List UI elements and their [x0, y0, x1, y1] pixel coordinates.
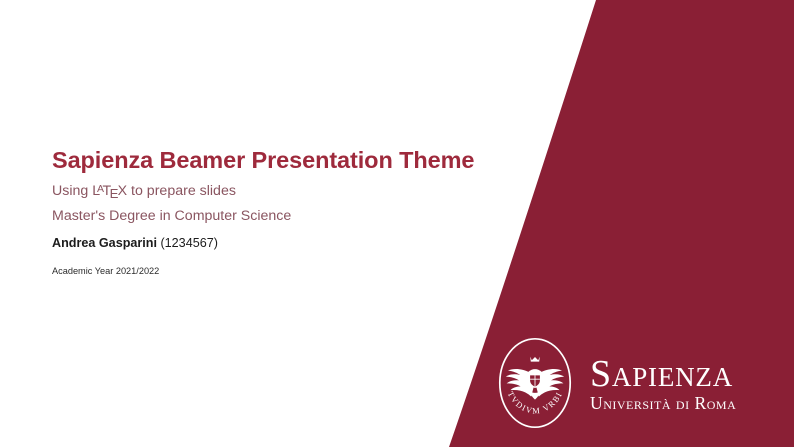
latex-x: X [118, 183, 127, 199]
title-block: Sapienza Beamer Presentation Theme Using… [52, 148, 472, 277]
sapienza-wordmark: Sapienza Università di Roma [590, 353, 736, 412]
author-line: Andrea Gasparini (1234567) [52, 236, 472, 251]
subtitle-suffix: to prepare slides [127, 183, 236, 199]
sapienza-emblem-icon: STVDIVM VRBIS [497, 336, 573, 430]
latex-logo: LATEX [92, 183, 127, 200]
subtitle-prefix: Using [52, 183, 92, 199]
latex-a: A [97, 183, 104, 195]
page-title: Sapienza Beamer Presentation Theme [52, 148, 472, 174]
wordmark-sub: Università di Roma [590, 394, 736, 412]
sapienza-logo: STVDIVM VRBIS Sapienza Università di Rom… [497, 336, 736, 430]
academic-year: Academic Year 2021/2022 [52, 266, 472, 277]
slide-subtitle: Using LATEX to prepare slides [52, 183, 472, 200]
wordmark-main: Sapienza [590, 357, 736, 393]
latex-e: E [110, 186, 119, 201]
author-name: Andrea Gasparini [52, 236, 157, 250]
author-id: (1234567) [160, 236, 217, 250]
title-slide: Sapienza Beamer Presentation Theme Using… [0, 0, 794, 447]
course-line: Master's Degree in Computer Science [52, 208, 472, 225]
